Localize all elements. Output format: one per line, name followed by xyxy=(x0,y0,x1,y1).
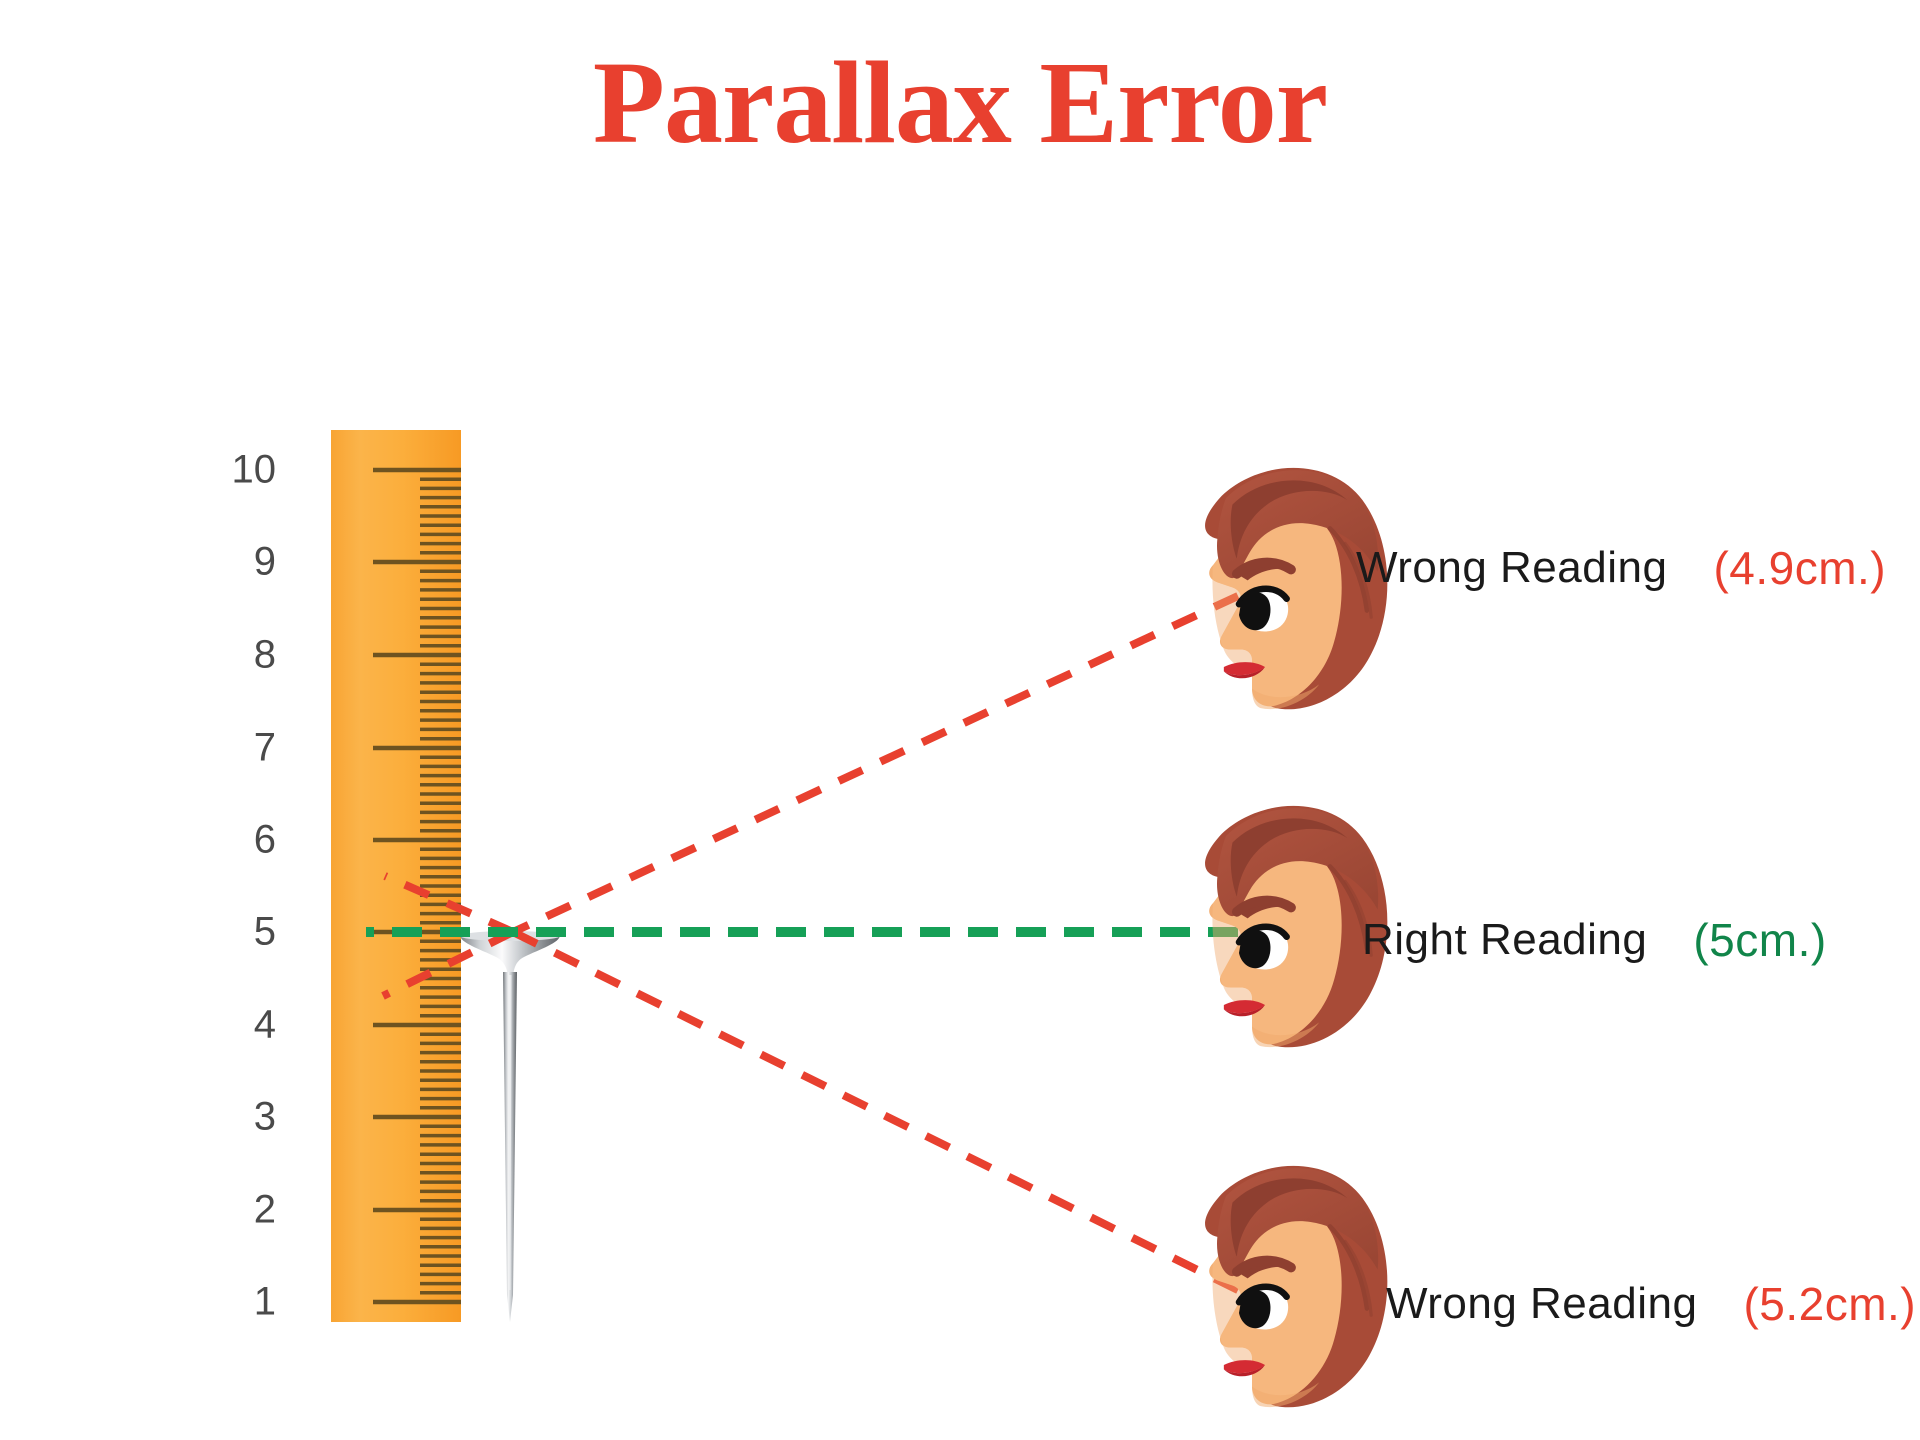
scale-number-3: 3 xyxy=(196,1095,276,1140)
observer-bottom-face xyxy=(1205,1166,1387,1407)
observer-bottom-value: (5.2cm.) xyxy=(1743,1277,1916,1331)
scale-number-1: 1 xyxy=(196,1280,276,1325)
observer-top-label-row: Wrong Reading (4.9cm.) xyxy=(1356,541,1886,595)
observer-top-value: (4.9cm.) xyxy=(1713,541,1886,595)
observer-middle-value: (5cm.) xyxy=(1693,913,1826,967)
scale-number-9: 9 xyxy=(196,540,276,585)
sight-line-wrong-top xyxy=(513,596,1238,932)
sight-lines xyxy=(366,596,1238,1290)
observer-top-label: Wrong Reading xyxy=(1356,543,1667,593)
observer-bottom-label: Wrong Reading xyxy=(1386,1279,1697,1329)
pin-nail xyxy=(460,931,560,1322)
scale-number-5: 5 xyxy=(196,910,276,955)
parallax-illustration xyxy=(0,0,1920,1440)
scale-number-6: 6 xyxy=(196,818,276,863)
observer-middle-face xyxy=(1205,806,1387,1047)
ruler xyxy=(331,430,461,1322)
scale-number-8: 8 xyxy=(196,633,276,678)
scale-number-4: 4 xyxy=(196,1003,276,1048)
scale-number-2: 2 xyxy=(196,1188,276,1233)
scale-number-7: 7 xyxy=(196,726,276,771)
observer-bottom-label-row: Wrong Reading (5.2cm.) xyxy=(1386,1277,1916,1331)
sight-line-wrong-bottom xyxy=(513,932,1238,1290)
diagram-canvas: Parallax Error xyxy=(0,0,1920,1440)
scale-number-10: 10 xyxy=(196,448,276,493)
observer-middle-label: Right Reading xyxy=(1362,915,1647,965)
observer-middle-label-row: Right Reading (5cm.) xyxy=(1362,913,1827,967)
